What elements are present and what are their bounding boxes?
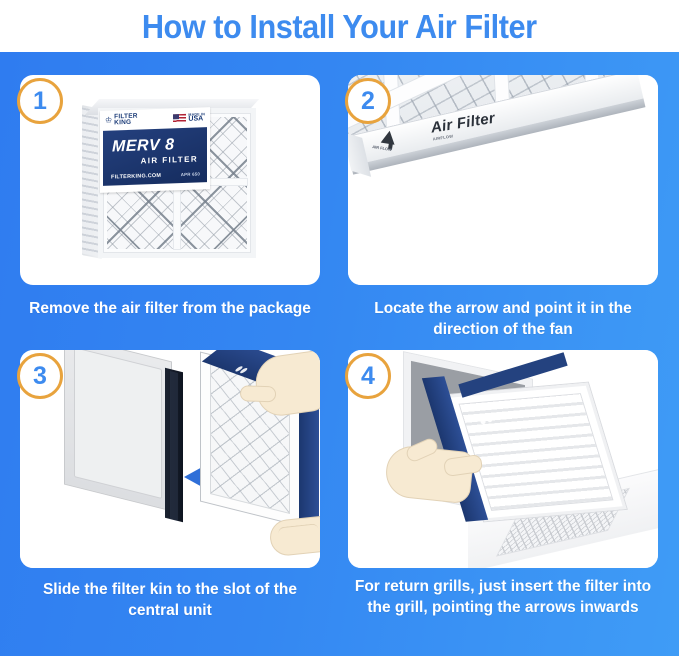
label-subtitle: AIR FILTER [141, 155, 198, 165]
step-badge-1: 1 [17, 78, 63, 124]
air-filter-product-photo: ♔ FILTER KING MADE IN USA [82, 99, 262, 262]
step-caption-2: Locate the arrow and point it in the dir… [343, 298, 663, 340]
label-main-panel: MERV 8 AIR FILTER FILTERKING.COM APR 650 [103, 127, 207, 186]
header: How to Install Your Air Filter [0, 0, 679, 52]
step-badge-4: 4 [345, 353, 391, 399]
product-label: ♔ FILTER KING MADE IN USA [100, 107, 210, 193]
step-badge-3: 3 [17, 353, 63, 399]
slot-inner-panel [74, 350, 162, 499]
step-card-4 [348, 350, 658, 568]
slot-opening-shade [170, 371, 178, 521]
label-apr-rating: APR 650 [181, 171, 200, 178]
made-in-usa-text: MADE IN USA [188, 112, 205, 123]
usa-flag-icon [173, 113, 186, 122]
corner-photo-content: AIR FLOW Air Filter AIRFLOW [348, 75, 658, 285]
step-card-2: AIR FLOW Air Filter AIRFLOW [348, 75, 658, 285]
label-website: FILTERKING.COM [111, 173, 161, 181]
filter-corner-arrow-photo: AIR FLOW Air Filter AIRFLOW [348, 75, 658, 285]
brand-line-2: KING [114, 119, 131, 127]
step-card-1: ♔ FILTER KING MADE IN USA [20, 75, 320, 285]
page-title: How to Install Your Air Filter [142, 10, 537, 43]
step-caption-3: Slide the filter kin to the slot of the … [16, 579, 324, 621]
slide-filter-into-slot-illustration [20, 350, 320, 568]
central-unit-slot [64, 350, 172, 511]
return-grille-insert-illustration [348, 350, 658, 568]
crown-icon: ♔ [105, 116, 112, 124]
step-badge-2: 2 [345, 78, 391, 124]
brand-lockup: ♔ FILTER KING [105, 113, 138, 127]
step-caption-1: Remove the air filter from the package [20, 298, 320, 319]
steps-background: ♔ FILTER KING MADE IN USA [0, 52, 679, 656]
step-card-3 [20, 350, 320, 568]
filter-side-ribs [82, 107, 98, 256]
brand-name: FILTER KING [114, 113, 137, 127]
merv-rating: MERV 8 [112, 137, 175, 155]
steps-grid: ♔ FILTER KING MADE IN USA [0, 52, 679, 656]
step-caption-4: For return grills, just insert the filte… [343, 576, 663, 618]
made-in-usa-lockup: MADE IN USA [173, 112, 205, 123]
usa-text: USA [188, 115, 203, 123]
infographic-page: How to Install Your Air Filter [0, 0, 679, 656]
